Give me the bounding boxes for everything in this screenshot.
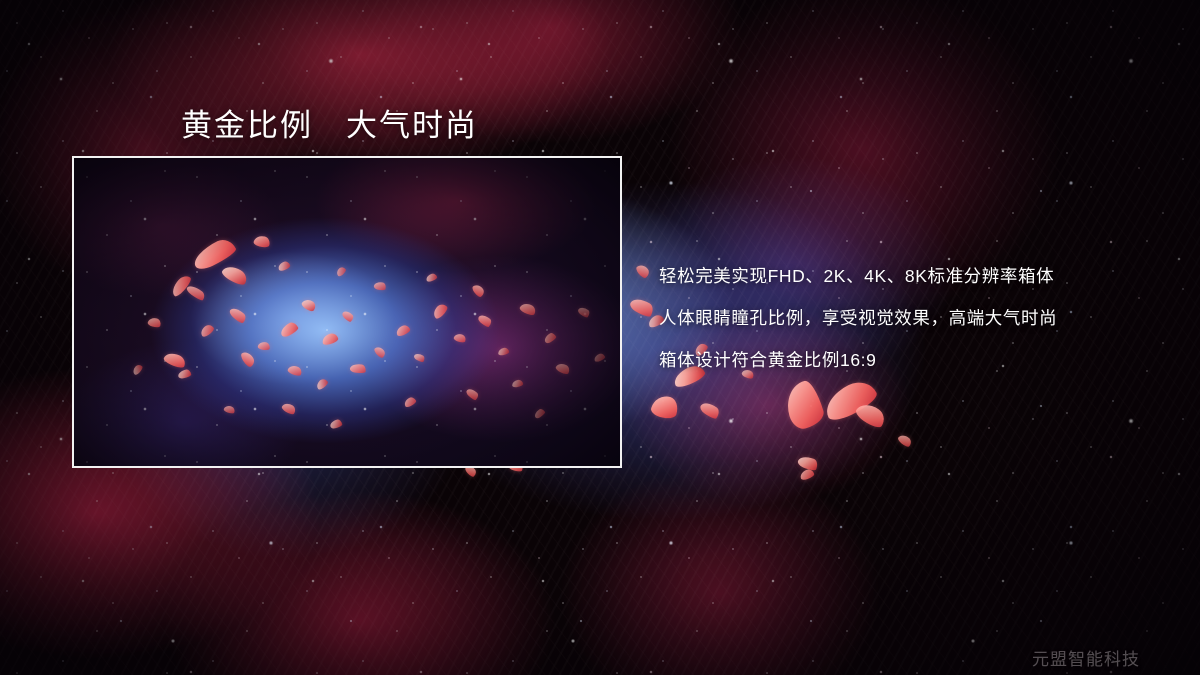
- flower-petal: [897, 433, 914, 449]
- flower-petal: [781, 378, 826, 432]
- flower-petal: [854, 399, 889, 431]
- slide-canvas: 黄金比例 大气时尚 轻松完美实现FHD、2K、4K、8K标准分辨率箱体 人体眼睛…: [0, 0, 1200, 675]
- media-frame[interactable]: [72, 156, 622, 468]
- watermark: 元盟智能科技: [1032, 645, 1140, 670]
- body-copy: 轻松完美实现FHD、2K、4K、8K标准分辨率箱体 人体眼睛瞳孔比例，享受视觉效…: [659, 255, 1159, 381]
- flower-petal: [820, 376, 881, 425]
- flower-petal: [799, 468, 815, 481]
- flower-petal: [635, 262, 651, 279]
- body-line-3: 箱体设计符合黄金比例16:9: [659, 339, 1159, 381]
- flower-petal: [796, 454, 819, 473]
- media-frame-content: [74, 158, 620, 466]
- framed-vignette: [74, 158, 620, 466]
- flower-petal: [649, 393, 680, 421]
- flower-petal: [628, 295, 656, 319]
- body-line-1: 轻松完美实现FHD、2K、4K、8K标准分辨率箱体: [659, 255, 1159, 297]
- flower-petal: [698, 399, 721, 420]
- page-title: 黄金比例 大气时尚: [181, 100, 478, 145]
- body-line-2: 人体眼睛瞳孔比例，享受视觉效果，高端大气时尚: [659, 297, 1159, 339]
